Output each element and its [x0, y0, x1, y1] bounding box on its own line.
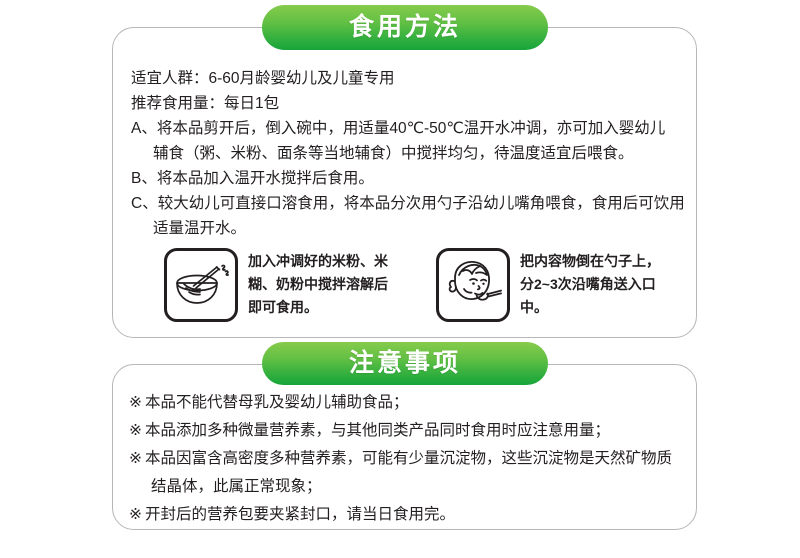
notice-line-2: ※本品添加多种微量营养素，与其他同类产品同时食用时应注意用量；	[129, 417, 685, 445]
usage-line-c: C、较大幼儿可直接口溶食用，将本品分次用勺子沿幼儿嘴角喂食，食用后可饮用	[131, 191, 683, 216]
illustration-item-baby: 把内容物倒在勺子上，分2~3次沿嘴角送入口中。	[436, 248, 670, 322]
notice-card: ※本品不能代替母乳及婴幼儿辅助食品； ※本品添加多种微量营养素，与其他同类产品同…	[112, 364, 697, 530]
product-instructions-page: 适宜人群：6-60月龄婴幼儿及儿童专用 推荐食用量：每日1包 A、将本品剪开后，…	[0, 0, 800, 558]
notice-line-4: ※开封后的营养包要夹紧封口，请当日食用完。	[129, 501, 685, 529]
illustration-caption-baby: 把内容物倒在勺子上，分2~3次沿嘴角送入口中。	[520, 248, 670, 319]
notice-text-block: ※本品不能代替母乳及婴幼儿辅助食品； ※本品添加多种微量营养素，与其他同类产品同…	[129, 389, 685, 529]
usage-line-dosage: 推荐食用量：每日1包	[131, 91, 683, 116]
illustration-row: 加入冲调好的米粉、米糊、奶粉中搅拌溶解后即可食用。	[164, 248, 684, 322]
bowl-with-spoon-icon	[164, 248, 238, 322]
usage-line-a: A、将本品剪开后，倒入碗中，用适量40℃-50℃温开水冲调，亦可加入婴幼儿	[131, 116, 683, 141]
notice-section-header-label: 注意事项	[349, 351, 461, 376]
notice-line-3-text: 本品因富含高密度多种营养素，可能有少量沉淀物，这些沉淀物是天然矿物质	[145, 450, 672, 467]
notice-line-4-text: 开封后的营养包要夹紧封口，请当日食用完。	[145, 506, 455, 523]
notice-bullet-icon: ※	[129, 389, 145, 417]
notice-bullet-icon: ※	[129, 417, 145, 445]
notice-bullet-icon: ※	[129, 501, 145, 529]
illustration-caption-bowl: 加入冲调好的米粉、米糊、奶粉中搅拌溶解后即可食用。	[248, 248, 398, 319]
notice-line-1-text: 本品不能代替母乳及婴幼儿辅助食品；	[145, 394, 409, 411]
notice-line-1: ※本品不能代替母乳及婴幼儿辅助食品；	[129, 389, 685, 417]
notice-line-3-cont: 结晶体，此属正常现象；	[129, 473, 685, 501]
usage-section-header: 食用方法	[262, 5, 548, 50]
illustration-item-bowl: 加入冲调好的米粉、米糊、奶粉中搅拌溶解后即可食用。	[164, 248, 398, 322]
usage-line-a-cont: 辅食（粥、米粉、面条等当地辅食）中搅拌均匀，待温度适宜后喂食。	[131, 141, 683, 166]
notice-line-2-text: 本品添加多种微量营养素，与其他同类产品同时食用时应注意用量；	[145, 422, 610, 439]
usage-section-header-label: 食用方法	[349, 15, 461, 40]
usage-line-c-cont: 适量温开水。	[131, 216, 683, 241]
notice-bullet-icon: ※	[129, 445, 145, 473]
notice-line-3: ※本品因富含高密度多种营养素，可能有少量沉淀物，这些沉淀物是天然矿物质	[129, 445, 685, 473]
usage-line-b: B、将本品加入温开水搅拌后食用。	[131, 166, 683, 191]
usage-line-audience: 适宜人群：6-60月龄婴幼儿及儿童专用	[131, 66, 683, 91]
notice-section-header: 注意事项	[262, 342, 548, 385]
usage-text-block: 适宜人群：6-60月龄婴幼儿及儿童专用 推荐食用量：每日1包 A、将本品剪开后，…	[131, 66, 683, 241]
baby-fed-with-spoon-icon	[436, 248, 510, 322]
usage-card: 适宜人群：6-60月龄婴幼儿及儿童专用 推荐食用量：每日1包 A、将本品剪开后，…	[112, 27, 697, 338]
